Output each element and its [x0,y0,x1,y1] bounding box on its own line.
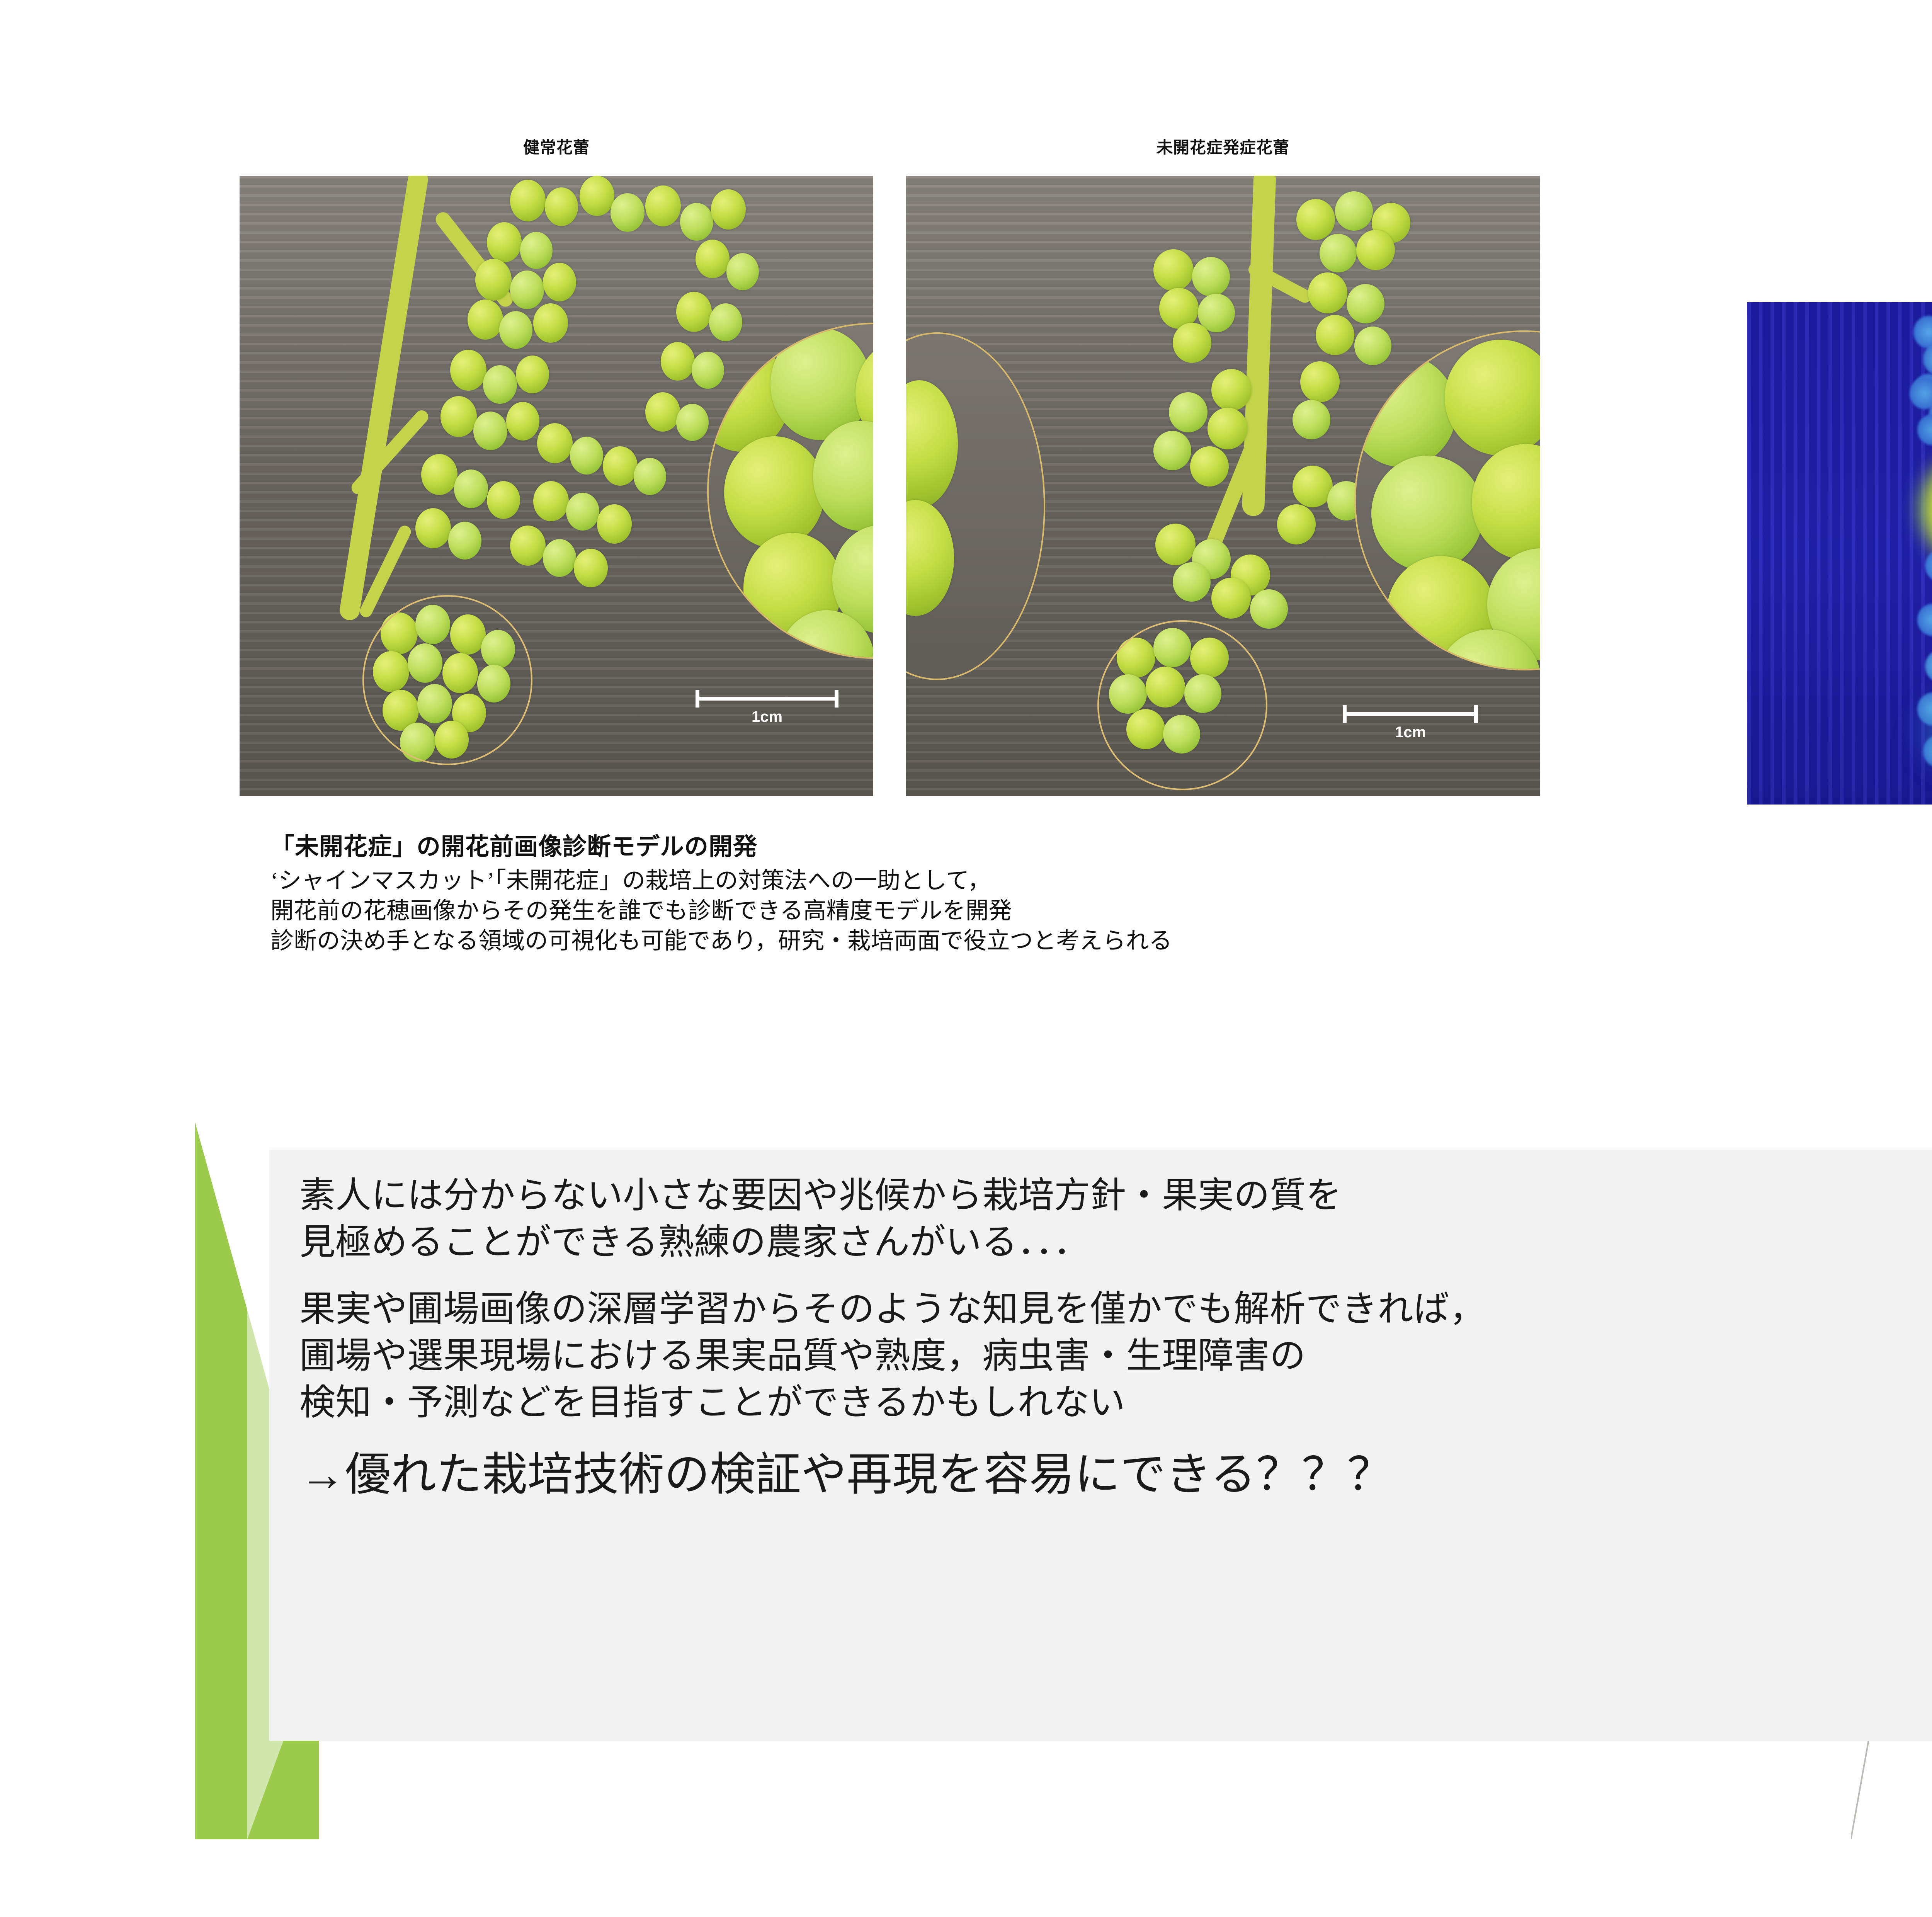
lower-cluster-circle-marker [1097,620,1267,790]
conclusion-p2-line3: 検知・予測などを目指すことができるかもしれない [299,1380,1932,1427]
flower-bud [1277,504,1316,544]
left-scale-label: 1cm [696,708,838,726]
flower-bud [1300,361,1340,402]
flower-bud [726,253,759,290]
flower-bud [1293,466,1333,507]
flower-bud [680,203,713,241]
flower-bud [696,240,730,278]
flower-bud [1211,369,1252,411]
flower-bud [1356,230,1395,270]
heading-title: 「未開花症」の開花前画像診断モデルの開発 [270,827,1932,862]
flower-bud [1190,446,1229,486]
conclusion-p2-line2: 圃場や選果現場における果実品質や熟度，病虫害・生理障害の [299,1333,1932,1380]
flower-bud [1192,257,1230,296]
flower-bud [1169,392,1207,432]
flower-bud [487,481,520,519]
flower-bud [1335,191,1373,231]
flower-bud [510,526,546,566]
flower-bud [475,259,512,301]
flower-bud [454,469,488,508]
conclusion-content: 素人には分からない小さな要因や兆候から栽培方針・果実の質を 見極めることができる… [299,1173,1932,1502]
right-photo-scale-bar: 1cm [1343,705,1478,748]
flower-bud [1308,272,1347,313]
flower-bud [566,493,599,531]
flower-bud [537,423,573,463]
flower-bud [634,458,666,495]
grad-cam-heatmap-image [1747,302,1932,805]
flower-bud [421,454,457,495]
flower-bud [597,504,632,544]
flower-bud [1173,562,1211,602]
magnified-inset-circle [707,323,873,659]
flower-bud [499,311,532,349]
heatmap-background [1747,302,1932,805]
flower-bud [645,185,681,226]
flower-bud [483,365,517,404]
heading-text-block: 「未開花症」の開花前画像診断モデルの開発 ‘シャインマスカット’「未開花症」の栽… [270,827,1932,956]
flower-bud [1173,323,1211,363]
flower-bud [415,508,451,548]
flower-bud [533,303,568,343]
flower-bud [645,392,680,432]
flower-bud [603,446,638,486]
right-photo-caption: 未開花症発症花蕾 [906,134,1540,158]
flower-bud [440,396,477,437]
flower-bud [1293,400,1330,439]
flower-bud [545,187,578,226]
flower-bud [661,342,695,381]
heading-line-1: ‘シャインマスカット’「未開花症」の栽培上の対策法への一助として， [270,866,1932,896]
conclusion-final-line: →優れた栽培技術の検証や再現を容易にできる？？？ [299,1448,1932,1502]
flower-bud [487,222,522,262]
flower-bud [711,189,746,230]
flower-bud [533,481,569,521]
flower-bud [580,176,614,216]
conclusion-p2-line1: 果実や圃場画像の深層学習からそのような知見を僅かでも解析できれば， [299,1286,1932,1333]
flower-bud [1153,431,1191,470]
flower-bud [611,193,645,232]
left-photo-healthy-cluster: 1cm [240,176,873,796]
lower-cluster-circle-marker [362,595,532,765]
flower-bud [473,412,507,450]
flower-bud [676,404,709,441]
flower-bud [1153,249,1194,291]
left-photo-scale-bar: 1cm [696,690,838,732]
heading-line-3: 診断の決め手となる領域の可視化も可能であり，研究・栽培両面で役立つと考えられる [270,926,1932,956]
flower-bud [1250,589,1288,629]
flower-bud [448,522,481,560]
flower-bud [516,356,549,393]
flower-bud [543,263,576,301]
slide-canvas: 健常花蕾 [0,0,1932,1917]
flower-bud [1320,234,1357,272]
flower-bud [510,270,544,309]
flower-bud [1207,408,1248,449]
right-photo-diseased-cluster: 1cm [906,176,1540,796]
flower-bud [1211,578,1251,619]
flower-bud [506,402,539,441]
conclusion-grey-panel: 素人には分からない小さな要因や兆候から栽培方針・果実の質を 見極めることができる… [269,1150,1932,1741]
flower-bud [1347,284,1384,323]
flower-bud [574,549,608,587]
flower-bud [450,350,486,391]
flower-bud [1296,199,1335,240]
flower-bud [676,292,712,332]
heading-line-2: 開花前の花穂画像からその発生を誰でも診断できる高精度モデルを開発 [270,896,1932,926]
left-photo-caption: 健常花蕾 [240,134,873,158]
flower-bud [468,299,503,340]
flower-bud [1155,524,1196,565]
conclusion-p1-line1: 素人には分からない小さな要因や兆候から栽培方針・果実の質を [299,1173,1932,1220]
flower-bud [1316,315,1354,355]
conclusion-p1-line2: 見極めることができる熟練の農家さんがいる．．． [299,1220,1932,1266]
flower-bud [543,539,576,577]
flower-bud [520,232,553,269]
flower-bud [510,180,546,221]
right-scale-label: 1cm [1343,724,1478,741]
magnified-inset-circle-left [906,332,1045,680]
magnified-inset-circle [1354,330,1540,670]
flower-bud [570,437,603,475]
